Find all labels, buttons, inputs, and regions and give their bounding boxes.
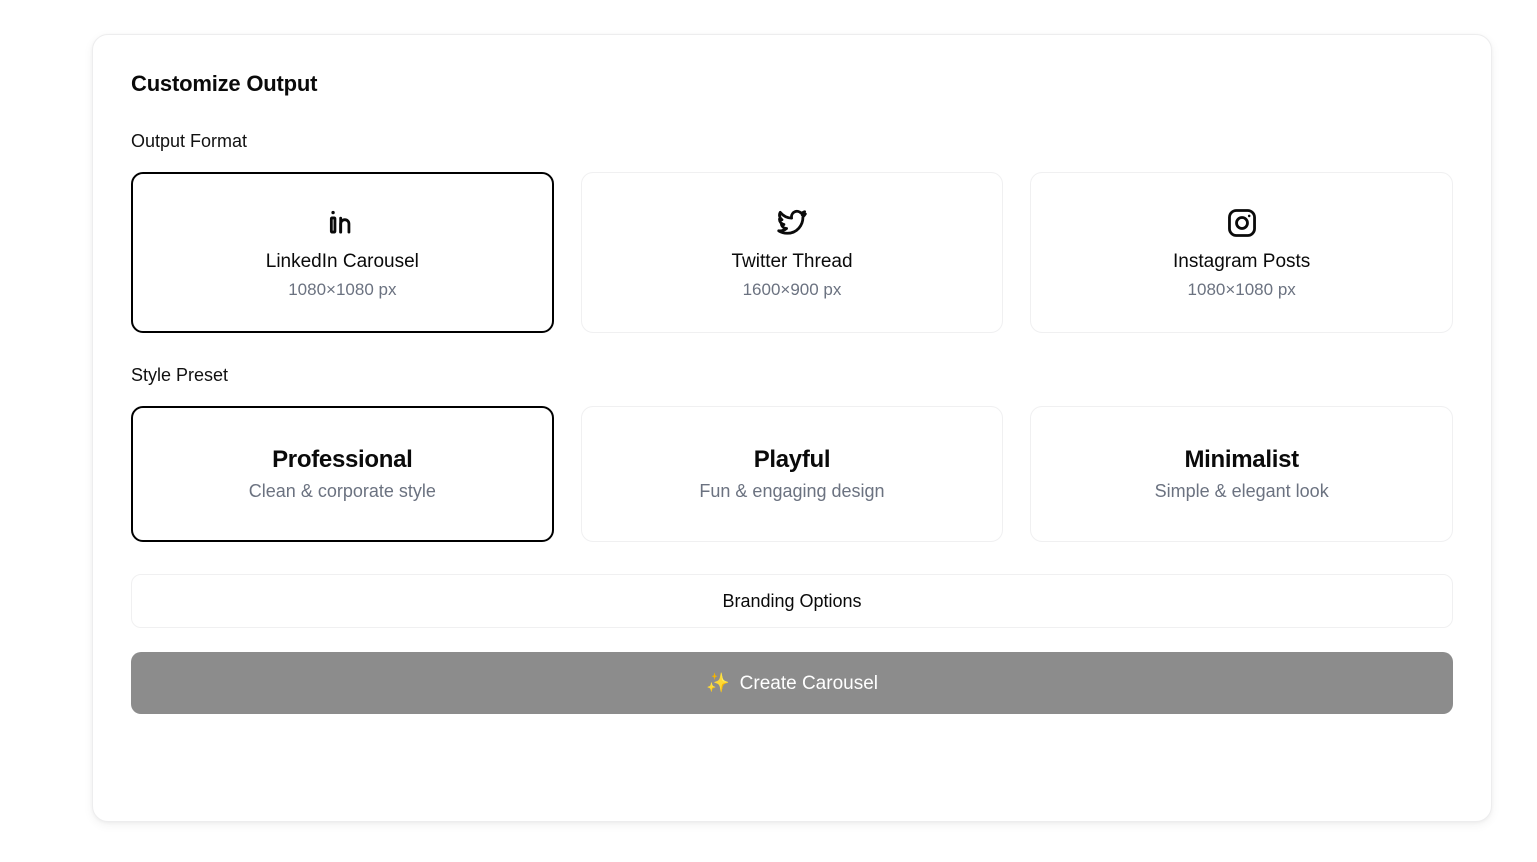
app-root: Customize Output Output Format LinkedIn … (0, 0, 1537, 862)
format-option-title: LinkedIn Carousel (266, 251, 419, 273)
style-option-playful[interactable]: Playful Fun & engaging design (581, 406, 1004, 542)
create-carousel-button[interactable]: ✨ Create Carousel (131, 652, 1453, 714)
style-option-minimalist[interactable]: Minimalist Simple & elegant look (1030, 406, 1453, 542)
linkedin-icon (326, 205, 358, 241)
format-option-title: Instagram Posts (1173, 251, 1310, 273)
format-option-dimensions: 1080×1080 px (1188, 280, 1296, 300)
twitter-icon (776, 205, 808, 241)
style-preset-options: Professional Clean & corporate style Pla… (131, 406, 1453, 542)
customize-output-panel: Customize Output Output Format LinkedIn … (92, 34, 1492, 822)
format-option-dimensions: 1600×900 px (743, 280, 842, 300)
style-option-description: Simple & elegant look (1155, 481, 1329, 502)
style-option-title: Minimalist (1184, 446, 1298, 474)
style-option-title: Professional (272, 446, 412, 474)
style-option-description: Fun & engaging design (699, 481, 884, 502)
output-format-section: Output Format (131, 132, 1453, 150)
style-option-professional[interactable]: Professional Clean & corporate style (131, 406, 554, 542)
sparkles-icon: ✨ (706, 674, 730, 693)
output-format-options: LinkedIn Carousel 1080×1080 px Twitter T… (131, 172, 1453, 333)
style-preset-label: Style Preset (131, 366, 1453, 384)
instagram-icon (1226, 205, 1258, 241)
format-option-title: Twitter Thread (731, 251, 852, 273)
page-title: Customize Output (131, 73, 1453, 95)
format-option-dimensions: 1080×1080 px (288, 280, 396, 300)
style-option-description: Clean & corporate style (249, 481, 436, 502)
create-carousel-label: Create Carousel (740, 674, 878, 693)
style-preset-section: Style Preset (131, 366, 1453, 384)
format-option-linkedin[interactable]: LinkedIn Carousel 1080×1080 px (131, 172, 554, 333)
branding-options-button[interactable]: Branding Options (131, 574, 1453, 628)
output-format-label: Output Format (131, 132, 1453, 150)
format-option-twitter[interactable]: Twitter Thread 1600×900 px (581, 172, 1004, 333)
style-option-title: Playful (754, 446, 831, 474)
format-option-instagram[interactable]: Instagram Posts 1080×1080 px (1030, 172, 1453, 333)
